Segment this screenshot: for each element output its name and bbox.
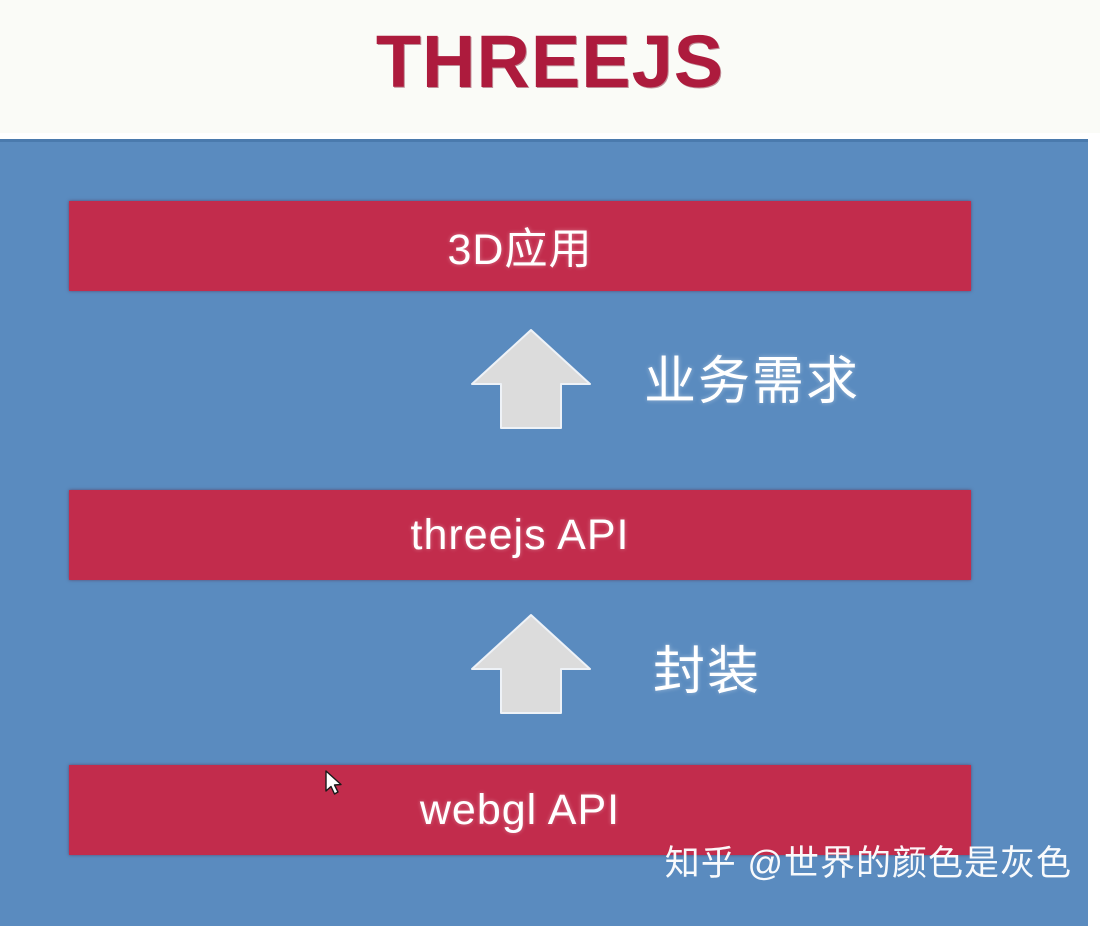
title-band: THREEJS: [0, 0, 1100, 133]
layer-box-threejs-api: threejs API: [69, 490, 971, 580]
layer-label: webgl API: [420, 786, 620, 835]
architecture-diagram-panel: 3D应用 业务需求 threejs API 封装 webgl API 知乎 @世…: [0, 139, 1088, 926]
arrow-up-encapsulation: [470, 613, 592, 715]
watermark-text: 知乎 @世界的颜色是灰色: [665, 835, 1072, 886]
layer-label: threejs API: [411, 511, 630, 560]
arrow-caption-business-requirement: 业务需求: [644, 352, 860, 412]
arrow-up-icon: [470, 613, 592, 715]
arrow-up-business-requirement: [470, 328, 592, 430]
layer-label: 3D应用: [448, 215, 593, 277]
page-title: THREEJS: [0, 19, 1100, 105]
layer-box-3d-application: 3D应用: [69, 201, 971, 291]
arrow-up-icon: [470, 328, 592, 430]
arrow-caption-encapsulation: 封装: [653, 642, 761, 702]
